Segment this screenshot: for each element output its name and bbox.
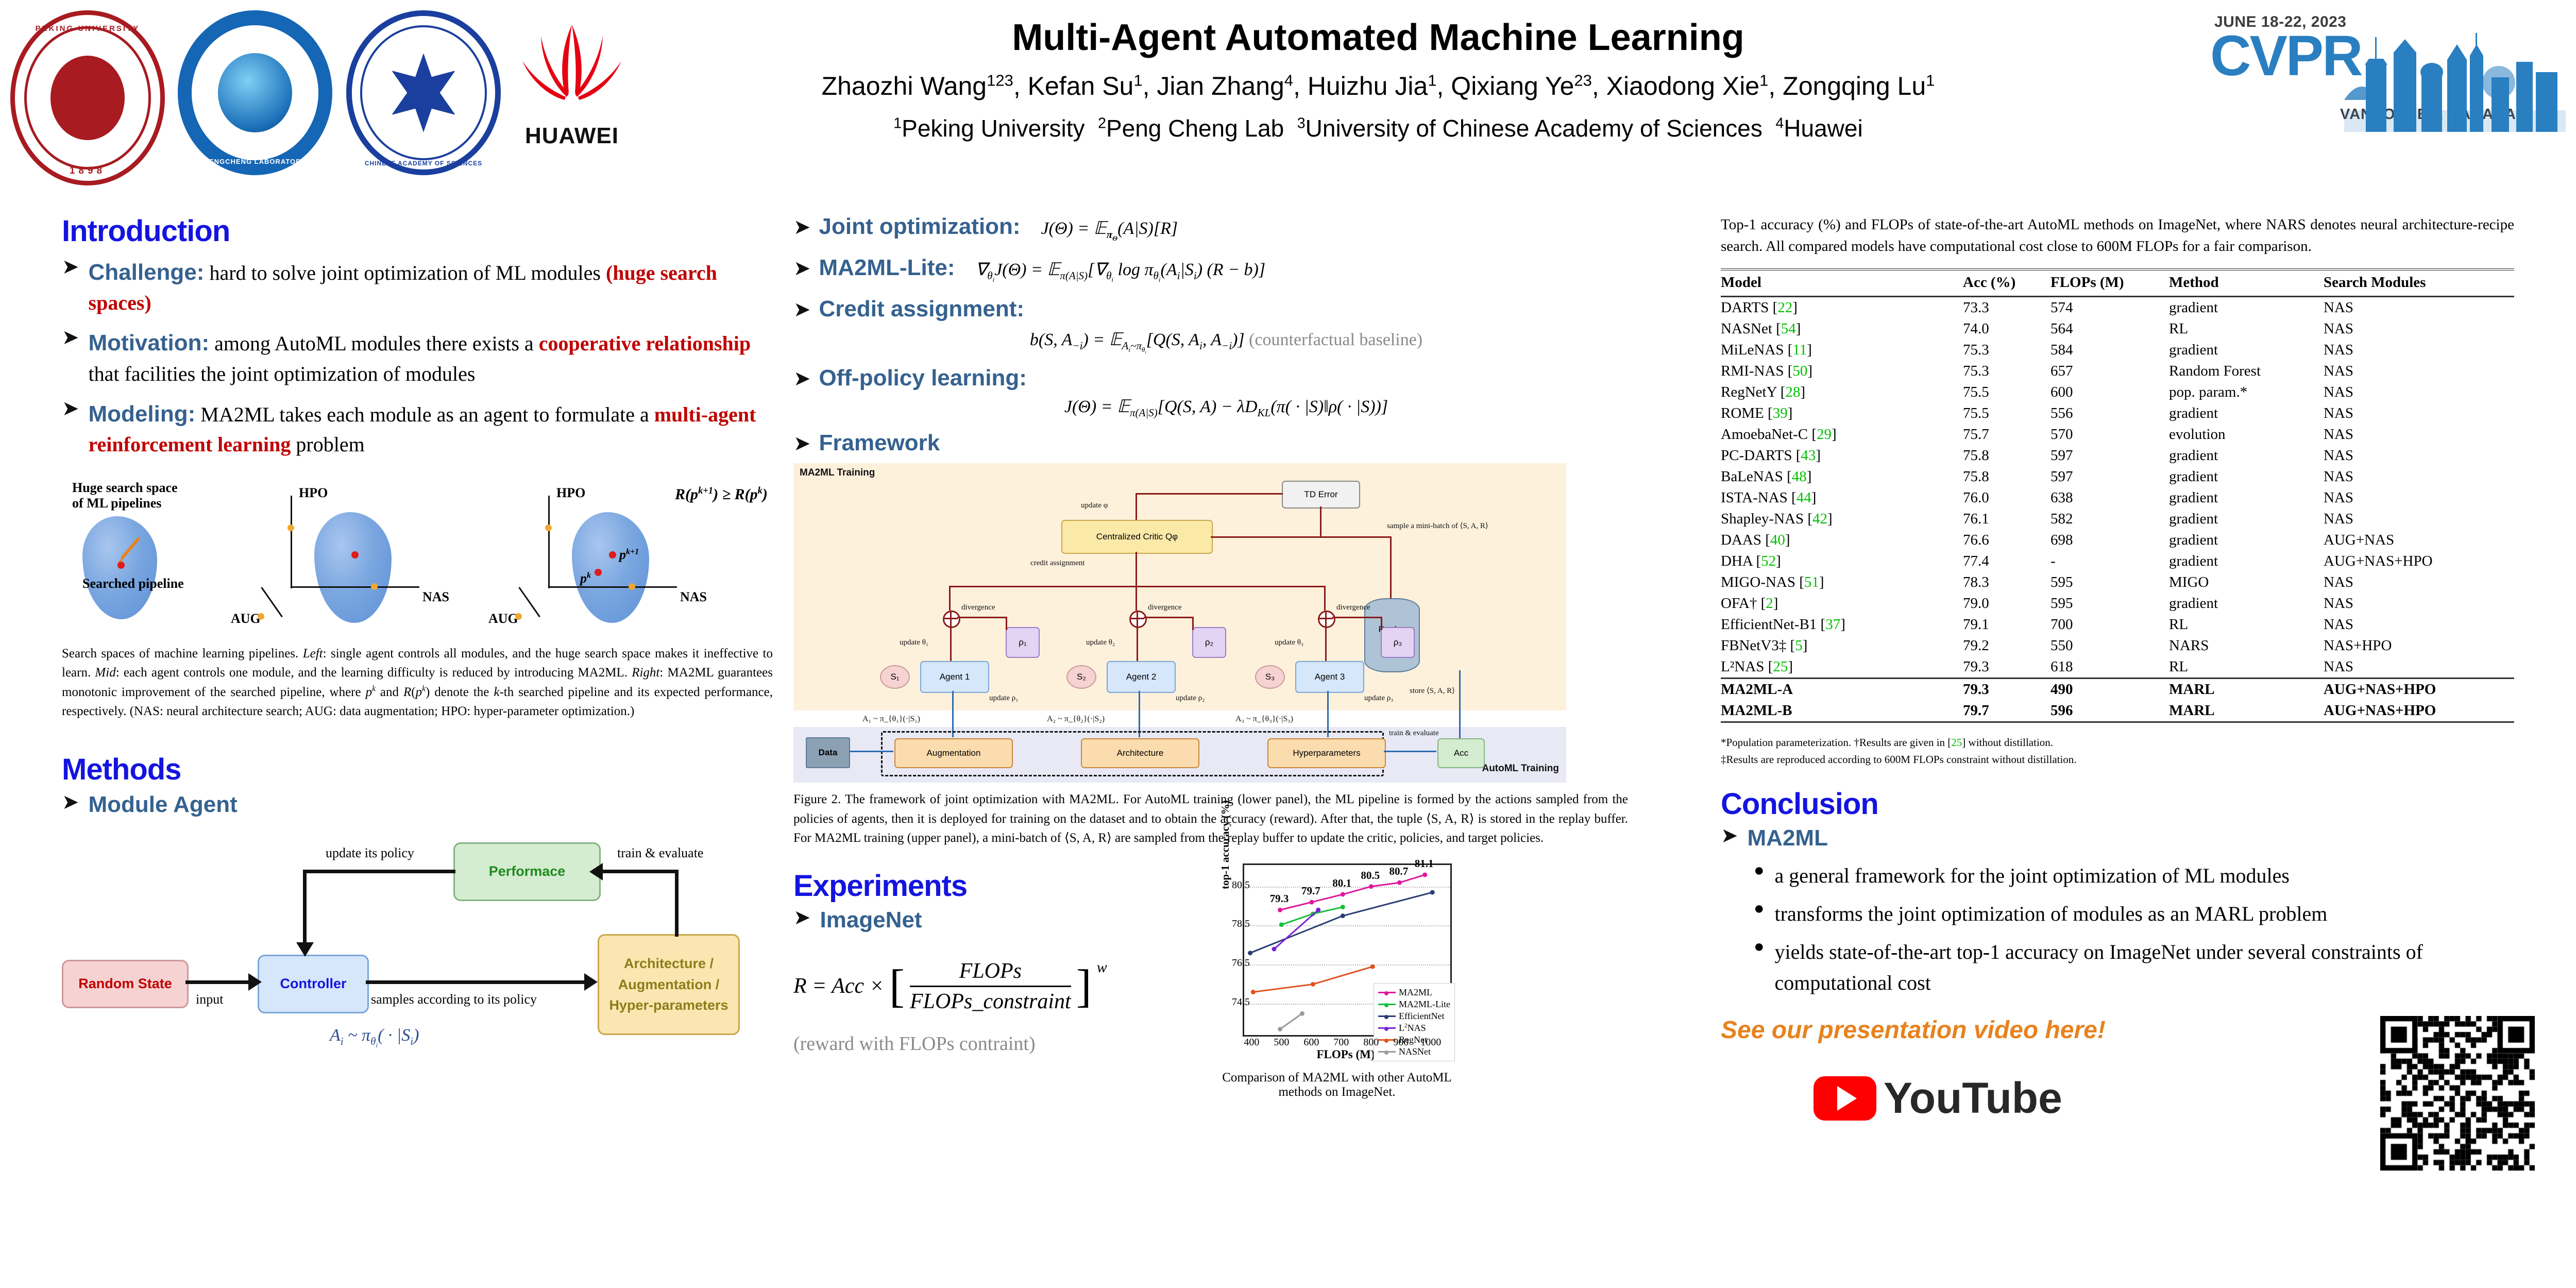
ma2ml-training-title: MA2ML Training (800, 467, 875, 479)
divergence-label-2: divergence (1148, 603, 1182, 612)
cell-acc: 79.2 (1963, 635, 2050, 656)
youtube-play-icon[interactable] (1814, 1076, 1876, 1121)
dot-bullet-icon: ● (1754, 899, 1765, 929)
intro-bullet-label: Challenge: (89, 260, 205, 285)
table-row: MiLeNAS [11]75.3584gradientNAS (1721, 340, 2514, 361)
right-pipeline-dot-k (595, 569, 602, 576)
table-row: L²NAS [25]79.3618RLNAS (1721, 656, 2514, 679)
chart-data-label: 79.3 (1270, 892, 1289, 905)
cell-method: gradient (2169, 530, 2324, 551)
cell-acc: 74.0 (1963, 318, 2050, 340)
legend-item: EfficientNet (1378, 1011, 1450, 1022)
line-theta1 (950, 625, 952, 661)
cell-flops: 550 (2050, 635, 2169, 656)
architecture-box: Architecture (1081, 738, 1199, 768)
actions-line-2: Augmentation / (618, 974, 720, 995)
youtube-logo[interactable]: YouTube (1814, 1073, 2380, 1123)
see-video-text: See our presentation video here! (1721, 1016, 2380, 1044)
peking-university-seal-text: PEKING UNIVERSITY (10, 24, 165, 33)
vancouver-skyline-icon (2344, 28, 2566, 136)
conclusion-bullet: ● a general framework for the joint opti… (1754, 860, 2535, 891)
cvpr-logo: JUNE 18-22, 2023 CVPR VANCOUVER, CANADA (2210, 9, 2566, 164)
cell-flops: 595 (2050, 572, 2169, 593)
mid-pipeline-dot (351, 551, 359, 558)
huge-search-space-label-1: Huge search space (72, 480, 201, 496)
table-row: BaLeNAS [48]75.8597gradientNAS (1721, 466, 2514, 487)
accuracy-vs-flops-chart: top-1 accuracy (%) 79.379.780.180.580.78… (1216, 858, 1458, 1064)
table-row: AmoebaNet-C [29]75.7570evolutionNAS (1721, 424, 2514, 445)
actions-box: Architecture / Augmentation / Hyper-para… (598, 934, 740, 1035)
conclusion-bullet: ● transforms the joint optimization of m… (1754, 899, 2535, 929)
cell-model: EfficientNet-B1 [37] (1721, 614, 1963, 635)
chart-ytick: 80.5 (1219, 879, 1250, 891)
cell-flops: 700 (2050, 614, 2169, 635)
cell-acc: 79.0 (1963, 593, 2050, 614)
cell-flops: 618 (2050, 656, 2169, 679)
chart-point (1370, 964, 1375, 969)
chart-xtick: 700 (1328, 1037, 1354, 1048)
line-credit-a3 (1324, 586, 1326, 611)
axis-label-nas: NAS (680, 589, 707, 605)
cell-flops: 582 (2050, 509, 2169, 530)
table-row: PC-DARTS [43]75.8597gradientNAS (1721, 445, 2514, 466)
update-phi-label: update φ (1081, 501, 1108, 510)
cvpr-wordmark: CVPR (2210, 32, 2362, 80)
chart-xtick: 600 (1298, 1037, 1324, 1048)
chart-ytick: 76.5 (1219, 957, 1250, 969)
cell-method: gradient (2169, 551, 2324, 572)
automl-training-title: AutoML Training (1482, 763, 1559, 774)
line-actions-to-performance-v (675, 870, 679, 937)
cell-acc: 75.7 (1963, 424, 2050, 445)
axis-label-hpo: HPO (556, 485, 585, 501)
right-aug-dot (515, 613, 522, 620)
cell-flops: 638 (2050, 487, 2169, 509)
rule-cell (1721, 722, 1963, 730)
cell-modules: AUG+NAS+HPO (2324, 551, 2514, 572)
arrow-bullet-icon: ➤ (62, 257, 79, 318)
cell-method: MARL (2169, 700, 2324, 722)
conclusion-bullet-text: transforms the joint optimization of mod… (1775, 899, 2506, 929)
cell-method: gradient (2169, 487, 2324, 509)
table-row: NASNet [54]74.0564RLNAS (1721, 318, 2514, 340)
monotonic-improvement-formula: R(pk+1) ≥ R(pk) (675, 485, 768, 503)
line-actions-to-performance-h (601, 870, 677, 873)
arrow-bullet-icon: ➤ (1721, 825, 1738, 851)
table-bottom-rule (1721, 722, 2514, 730)
orange-arrow-icon (115, 536, 146, 565)
augmentation-box: Augmentation (894, 738, 1013, 768)
hpo-axis-right (548, 496, 550, 588)
line-performance-to-controller-v (303, 870, 307, 946)
train-evaluate-label: train & evaluate (1389, 729, 1439, 738)
td-error-box: TD Error (1282, 481, 1360, 509)
cell-acc: 75.8 (1963, 466, 2050, 487)
nas-axis-mid (291, 586, 419, 588)
label-update-its-policy: update its policy (326, 845, 414, 861)
agent-3-box: Agent 3 (1295, 661, 1364, 693)
chart-point (1272, 947, 1276, 952)
pengcheng-laboratory-seal-text: PENGCHENG LABORATORY (178, 158, 332, 165)
table-row: DAAS [40]76.6698gradientAUG+NAS (1721, 530, 2514, 551)
line-credit-h (949, 586, 1325, 587)
line-acc-to-buffer (1459, 670, 1461, 738)
chart-data-label: 79.7 (1301, 885, 1320, 897)
conclusion-bullet-text: a general framework for the joint optimi… (1775, 860, 2506, 891)
pengcheng-laboratory-logo: PENGCHENG LABORATORY (178, 10, 332, 175)
joint-optimization-label: Joint optimization: (819, 214, 1021, 240)
introduction-bullets: ➤ Challenge: hard to solve joint optimiz… (62, 257, 783, 460)
line-rho1-v (1006, 617, 1007, 630)
chart-point (1397, 880, 1402, 885)
middle-bullet-framework: ➤ Framework (793, 430, 1659, 456)
mid-hpo-dot (287, 524, 294, 531)
action-formula-1: A₁ ~ π_{θ₁}(·|S₁) (862, 715, 920, 724)
col-search-modules: Search Modules (2324, 269, 2514, 297)
joint-optimization-formula: J(Θ) = 𝔼πΘ(A|S)[R] (1041, 218, 1178, 243)
legend-swatch (1378, 1051, 1396, 1053)
dot-bullet-icon: ● (1754, 860, 1765, 891)
cell-modules: NAS (2324, 614, 2514, 635)
cell-model: FBNetV3‡ [5] (1721, 635, 1963, 656)
cell-flops: 597 (2050, 466, 2169, 487)
rule-cell (2324, 722, 2514, 730)
line-agent2-to-arch (1139, 691, 1140, 737)
cell-model: L²NAS [25] (1721, 656, 1963, 679)
aug-axis-mid (261, 587, 283, 617)
label-train-evaluate: train & evaluate (617, 845, 703, 861)
cell-model: MIGO-NAS [51] (1721, 572, 1963, 593)
arrow-bullet-icon: ➤ (793, 217, 811, 238)
arrowhead-icon (248, 973, 262, 991)
arrow-bullet-icon: ➤ (62, 792, 79, 818)
cell-modules: NAS (2324, 487, 2514, 509)
arrowhead-icon (296, 942, 314, 957)
arrowhead-icon (589, 863, 603, 880)
results-footnote-2: ‡Results are reproduced according to 600… (1721, 753, 2535, 766)
line-credit-v (1136, 552, 1137, 587)
chart-xtick: 400 (1239, 1037, 1264, 1048)
actions-line-3: Hyper-parameters (609, 995, 728, 1016)
legend-swatch (1378, 1027, 1396, 1029)
line-hp-to-acc (1384, 751, 1436, 752)
aug-axis-right (518, 587, 540, 617)
cell-model: AmoebaNet-C [29] (1721, 424, 1963, 445)
table-row: EfficientNet-B1 [37]79.1700RLNAS (1721, 614, 2514, 635)
cell-model: BaLeNAS [48] (1721, 466, 1963, 487)
cell-modules: NAS (2324, 361, 2514, 382)
cell-method: RL (2169, 656, 2324, 679)
action-formula-3: A₃ ~ π_{θ₃}(·|S₃) (1235, 715, 1293, 724)
table-row: MA2ML-A79.3490MARLAUG+NAS+HPO (1721, 679, 2514, 701)
line-theta2 (1137, 625, 1138, 661)
intro-bullet-modeling: ➤ Modeling: MA2ML takes each module as a… (62, 398, 783, 460)
cell-model: ROME [39] (1721, 403, 1963, 424)
cell-model: Shapley-NAS [42] (1721, 509, 1963, 530)
cell-modules: NAS (2324, 424, 2514, 445)
middle-bullet-ma2ml-lite: ➤ MA2ML-Lite: ∇θiJ(Θ) = 𝔼π(A|S)[∇θi log … (793, 255, 1659, 284)
cell-model: MA2ML-B (1721, 700, 1963, 722)
chart-point (1341, 905, 1345, 909)
conclusion-subheading: MA2ML (1748, 825, 1828, 851)
cell-flops: 600 (2050, 382, 2169, 403)
reward-exponent: w (1097, 959, 1107, 976)
line-performance-to-controller-h (303, 870, 455, 873)
video-promo-row: See our presentation video here! YouTube (1721, 1016, 2535, 1171)
cell-acc: 76.1 (1963, 509, 2050, 530)
right-pipeline-dot-k1 (609, 551, 616, 558)
middle-bullet-offpolicy: ➤ Off-policy learning: (793, 365, 1659, 391)
chart-xtick: 1000 (1418, 1037, 1444, 1048)
col-flops: FLOPs (M) (2050, 269, 2169, 297)
chart-ylabel: top-1 accuracy (%) (1219, 800, 1232, 889)
agent-1-box: Agent 1 (920, 661, 989, 693)
table-row: MIGO-NAS [51]78.3595MIGONAS (1721, 572, 2514, 593)
cell-modules: NAS (2324, 572, 2514, 593)
credit-assignment-label: credit assignment (1030, 559, 1084, 568)
table-row: DHA [52]77.4-gradientAUG+NAS+HPO (1721, 551, 2514, 572)
cell-method: RL (2169, 318, 2324, 340)
cell-modules: AUG+NAS (2324, 530, 2514, 551)
affiliation-list: 1Peking University 2Peng Cheng Lab 3Univ… (618, 114, 2138, 142)
table-row: Shapley-NAS [42]76.1582gradientNAS (1721, 509, 2514, 530)
cell-method: gradient (2169, 403, 2324, 424)
cell-model: MA2ML-A (1721, 679, 1963, 701)
cell-model: ISTA-NAS [44] (1721, 487, 1963, 509)
experiments-heading: Experiments (793, 869, 1185, 903)
chart-point (1430, 890, 1435, 895)
line-critic-to-td-v (1320, 506, 1321, 537)
table-row: RegNetY [28]75.5600pop. param.*NAS (1721, 382, 2514, 403)
cell-acc: 76.0 (1963, 487, 2050, 509)
results-table-head: Model Acc (%) FLOPs (M) Method Search Mo… (1721, 269, 2514, 297)
update-rho-3-label: update ρ₃ (1364, 694, 1393, 703)
credit-assignment-label: Credit assignment: (819, 296, 1025, 322)
cell-flops: 574 (2050, 297, 2169, 319)
update-rho-2-label: update ρ₂ (1176, 694, 1205, 703)
axis-label-hpo: HPO (299, 485, 328, 501)
poster-header: PEKING UNIVERSITY 1898 PENGCHENG LABORAT… (0, 0, 2576, 201)
intro-bullet-label: Motivation: (89, 330, 210, 355)
line-agent3-to-hp (1327, 691, 1329, 737)
reward-formula-prefix: R = Acc × (793, 974, 884, 998)
chart-point (1422, 872, 1427, 877)
line-td-to-critic-h (1136, 493, 1283, 495)
col-model: Model (1721, 269, 1963, 297)
qr-code[interactable] (2380, 1016, 2535, 1171)
line-credit-a1 (949, 586, 951, 611)
mid-nas-dot (371, 583, 378, 590)
cell-modules: NAS (2324, 445, 2514, 466)
chart-xtick: 900 (1388, 1037, 1414, 1048)
legend-swatch (1378, 1015, 1396, 1017)
counterfactual-baseline-note: (counterfactual baseline) (1249, 330, 1422, 349)
sample-minibatch-label: sample a mini-batch of ⟨S, A, R⟩ (1387, 521, 1488, 531)
reward-numerator: FLOPs (910, 959, 1071, 987)
chart-point (1248, 951, 1252, 955)
reward-note: (reward with FLOPs contraint) (793, 1032, 1185, 1055)
ma2ml-lite-label: MA2ML-Lite: (819, 255, 955, 281)
legend-label: EfficientNet (1399, 1011, 1445, 1022)
data-box: Data (806, 737, 850, 768)
legend-item: L2NAS (1378, 1023, 1450, 1033)
update-theta-3-label: update θ₃ (1275, 638, 1303, 647)
chinese-academy-of-sciences-logo: CHINESE ACADEMY OF SCIENCES (346, 10, 501, 175)
ma2ml-lite-formula: ∇θiJ(Θ) = 𝔼π(A|S)[∇θi log πθi(Ai|Si) (R … (975, 259, 1265, 284)
searched-pipeline-label: Searched pipeline (82, 576, 184, 591)
pk-label: pk (580, 571, 591, 586)
cell-flops: 657 (2050, 361, 2169, 382)
chart-line-L2NAS (1274, 910, 1318, 949)
cell-flops: 698 (2050, 530, 2169, 551)
acc-box: Acc (1437, 738, 1485, 768)
cell-method: MARL (2169, 679, 2324, 701)
huawei-wordmark: HUAWEI (515, 123, 629, 149)
cell-model: PC-DARTS [43] (1721, 445, 1963, 466)
arrow-bullet-icon: ➤ (62, 327, 79, 388)
results-table-caption: Top-1 accuracy (%) and FLOPs of state-of… (1721, 214, 2514, 257)
conclusion-heading: Conclusion (1721, 787, 2535, 821)
peking-university-year: 1898 (10, 165, 165, 177)
table-row: OFA† [2]79.0595gradientNAS (1721, 593, 2514, 614)
results-footnote-1: *Population parameterization. †Results a… (1721, 736, 2535, 749)
cas-seal-text: CHINESE ACADEMY OF SCIENCES (346, 160, 501, 167)
chart-point (1278, 1027, 1282, 1031)
cell-acc: 73.3 (1963, 297, 2050, 319)
chart-point (1341, 913, 1345, 918)
off-policy-label: Off-policy learning: (819, 365, 1027, 391)
methods-subheading-row: ➤ Module Agent (62, 792, 783, 818)
cell-method: MIGO (2169, 572, 2324, 593)
conclusion-subheading-row: ➤ MA2ML (1721, 825, 2535, 851)
huawei-logo: HUAWEI (515, 21, 629, 149)
line-rho2-to-sum (1144, 617, 1193, 618)
cell-method: RL (2169, 614, 2324, 635)
line-rho2-v (1192, 617, 1194, 630)
chart-point (1369, 884, 1374, 889)
chart-point (1311, 982, 1315, 987)
framework-label: Framework (819, 430, 940, 456)
axis-label-aug: AUG (488, 611, 518, 626)
arrow-bullet-icon: ➤ (793, 299, 811, 320)
search-space-blob-mid (314, 512, 392, 623)
cell-flops: 556 (2050, 403, 2169, 424)
right-hpo-dot (545, 524, 552, 531)
module-agent-formula: Ai ~ πθi( · |Si) (330, 1026, 419, 1049)
cell-method: gradient (2169, 340, 2324, 361)
col-acc: Acc (%) (1963, 269, 2050, 297)
cell-model: NASNet [54] (1721, 318, 1963, 340)
cell-acc: 75.3 (1963, 361, 2050, 382)
axis-label-aug: AUG (231, 611, 261, 626)
chart-data-label: 80.5 (1361, 869, 1380, 882)
cell-acc: 77.4 (1963, 551, 2050, 572)
chart-point (1316, 908, 1320, 912)
results-table-body: DARTS [22]73.3574gradientNASNASNet [54]7… (1721, 297, 2514, 730)
chart-ytick: 78.5 (1219, 918, 1250, 930)
cell-acc: 79.3 (1963, 656, 2050, 679)
huawei-petal-icon (515, 21, 629, 124)
legend-label: MA2ML (1399, 987, 1432, 998)
cell-model: MiLeNAS [11] (1721, 340, 1963, 361)
rho-2-box: ρ₂ (1192, 627, 1226, 658)
rule-cell (1963, 722, 2050, 730)
line-rho3-to-sum (1332, 617, 1382, 618)
line-td-to-critic-v (1136, 493, 1137, 520)
right-nas-dot (629, 583, 635, 590)
legend-label: L2NAS (1399, 1023, 1426, 1033)
cell-flops: - (2050, 551, 2169, 572)
rule-cell (2050, 722, 2169, 730)
chart-data-label: 80.1 (1332, 877, 1351, 890)
chart-point (1341, 892, 1345, 896)
introduction-heading: Introduction (62, 214, 783, 248)
table-row: DARTS [22]73.3574gradientNAS (1721, 297, 2514, 319)
line-agent1-to-aug (952, 691, 954, 737)
arrow-bullet-icon: ➤ (793, 368, 811, 389)
action-formula-2: A₂ ~ π_{θ₂}(·|S₂) (1047, 715, 1105, 724)
cell-model: DHA [52] (1721, 551, 1963, 572)
actions-line-1: Architecture / (624, 953, 714, 974)
label-samples-policy: samples according to its policy (371, 992, 537, 1007)
pk1-label: pk+1 (619, 547, 639, 563)
cell-acc: 75.3 (1963, 340, 2050, 361)
cell-acc: 78.3 (1963, 572, 2050, 593)
chart-data-label: 80.7 (1389, 865, 1408, 878)
cell-flops: 584 (2050, 340, 2169, 361)
arrow-bullet-icon: ➤ (793, 907, 811, 933)
table-row: ROME [39]75.5556gradientNAS (1721, 403, 2514, 424)
store-label: store ⟨S, A, R⟩ (1410, 686, 1455, 696)
cell-modules: NAS+HPO (2324, 635, 2514, 656)
cell-method: gradient (2169, 509, 2324, 530)
performance-box: Performace (453, 842, 601, 901)
random-state-box: Random State (62, 960, 189, 1008)
arrow-bullet-icon: ➤ (793, 258, 811, 279)
divergence-label-3: divergence (1336, 603, 1370, 612)
line-credit-a2 (1136, 586, 1137, 611)
conclusion-bullet: ● yields state-of-the-art top-1 accuracy… (1754, 937, 2535, 998)
chart-data-label: 81.1 (1415, 857, 1434, 870)
cell-flops: 490 (2050, 679, 2169, 701)
cell-modules: NAS (2324, 509, 2514, 530)
cell-acc: 75.5 (1963, 403, 2050, 424)
middle-bullet-credit: ➤ Credit assignment: (793, 296, 1659, 322)
cell-modules: NAS (2324, 297, 2514, 319)
methods-subheading: Module Agent (89, 792, 238, 818)
youtube-wordmark: YouTube (1884, 1073, 2062, 1123)
figure2-caption: Figure 2. The framework of joint optimiz… (793, 790, 1628, 848)
chart-point (1278, 908, 1282, 912)
conclusion-bullets: ● a general framework for the joint opti… (1754, 860, 2535, 998)
cell-flops: 597 (2050, 445, 2169, 466)
intro-bullet-motivation: ➤ Motivation: among AutoML modules there… (62, 327, 783, 388)
module-agent-diagram: Random State Controller Performace Archi… (62, 831, 783, 1047)
credit-assignment-formula-row: b(S, A−i) = 𝔼Ai~πθi[Q(S, Ai, A−i)] (coun… (793, 329, 1659, 355)
hyperparameters-box: Hyperparameters (1267, 738, 1386, 768)
cell-modules: NAS (2324, 466, 2514, 487)
cell-modules: NAS (2324, 382, 2514, 403)
update-rho-1-label: update ρ₁ (989, 694, 1018, 703)
table-row: FBNetV3‡ [5]79.2550NARSNAS+HPO (1721, 635, 2514, 656)
chart-ytick: 74.5 (1219, 996, 1250, 1008)
cell-modules: AUG+NAS+HPO (2324, 679, 2514, 701)
cell-acc: 75.5 (1963, 382, 2050, 403)
intro-bullet-label: Modeling: (89, 401, 196, 427)
legend-swatch (1378, 992, 1396, 993)
cell-acc: 79.3 (1963, 679, 2050, 701)
cell-method: gradient (2169, 297, 2324, 319)
